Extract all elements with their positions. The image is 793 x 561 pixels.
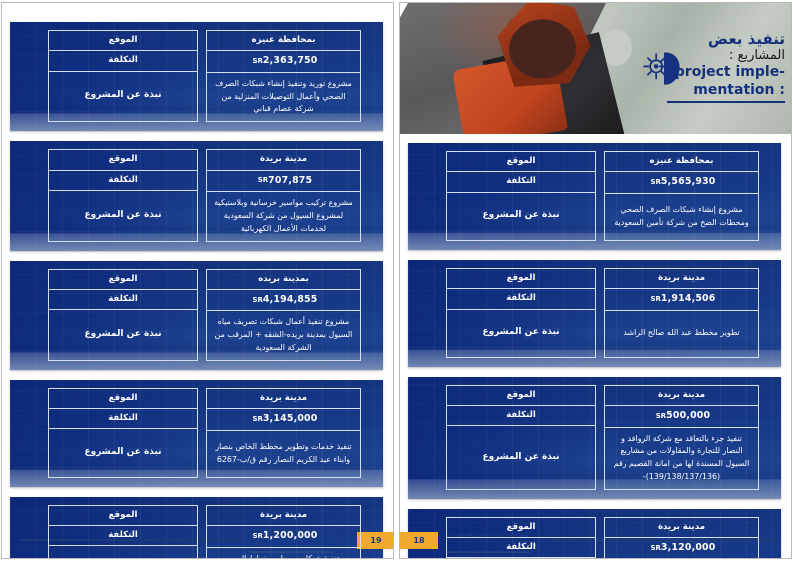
project-card[interactable]: مدينة بريدة SR3,120,000 تنفيذ شبكات الصر… (408, 509, 781, 559)
project-description-value: مشروع إنشاء شبكات الصرف الصحي ومحطات الض… (605, 194, 758, 240)
project-card[interactable]: بمدينة بريده SR4,194,855 مشروع تنفيذ أعم… (10, 261, 383, 370)
label-location: الموقع (447, 152, 595, 172)
project-description-value: تطوير مخطط عبد الله صالح الراشد (605, 311, 758, 357)
label-cost: التكلفة (447, 289, 595, 309)
project-cost-value: SR5,565,930 (605, 172, 758, 194)
project-value-column: مدينة بريدة SR1,200,000 تنفيذ شبكات سيول… (206, 505, 361, 559)
project-label-column: الموقع التكلفة نبذة عن المشروع (48, 388, 198, 478)
project-cost-value: SR3,145,000 (207, 409, 360, 431)
label-location: الموقع (49, 506, 197, 526)
project-location-value: مدينة بريدة (605, 386, 758, 406)
currency-label: SR (252, 531, 262, 542)
project-value-column: بمحافظة عنيزه SR2,363,750 مشروع توريد وت… (206, 30, 361, 122)
cost-amount: 2,363,750 (263, 54, 318, 69)
project-location-value: بمحافظة عنيزه (605, 152, 758, 172)
project-card[interactable]: مدينة بريدة SR707,875 مشروع تركيب مواسير… (10, 141, 383, 250)
label-cost: التكلفة (49, 290, 197, 310)
cost-amount: 707,875 (268, 174, 312, 189)
page-left: بمحافظة عنيزه SR2,363,750 مشروع توريد وت… (1, 2, 394, 559)
project-card[interactable]: مدينة بريدة SR1,914,506 تطوير مخطط عبد ا… (408, 260, 781, 367)
project-description-value: تنفيذ جزء بالتعاقد مع شركة الروافد و الن… (605, 428, 758, 489)
project-location-value: مدينة بريدة (207, 389, 360, 409)
project-location-value: مدينة بريدة (207, 506, 360, 526)
project-description-value: تنفيذ شبكات سيول بمخطط الحمر للمواطن ابر… (207, 548, 360, 559)
label-about: نبذة عن المشروع (447, 310, 595, 357)
label-cost: التكلفة (447, 538, 595, 558)
cost-amount: 1,200,000 (263, 529, 318, 544)
project-label-column: الموقع التكلفة نبذة عن المشروع (446, 151, 596, 241)
project-card[interactable]: بمحافظة عنيزه SR2,363,750 مشروع توريد وت… (10, 22, 383, 131)
cost-amount: 1,914,506 (661, 292, 716, 307)
project-description-value: مشروع تركيب مواسير خرسانية وبلاستيكية لم… (207, 192, 360, 240)
label-location: الموقع (447, 518, 595, 538)
label-about: نبذة عن المشروع (447, 426, 595, 488)
label-location: الموقع (447, 269, 595, 289)
cost-amount: 4,194,855 (263, 293, 318, 308)
section-header: تنفيذ بعض المشاريع : project imple- ment… (399, 3, 791, 134)
project-location-value: مدينة بريدة (207, 150, 360, 170)
magazine-spread: بمحافظة عنيزه SR2,363,750 مشروع توريد وت… (0, 0, 793, 561)
project-cost-value: SR500,000 (605, 406, 758, 428)
project-description-value: تنفيذ خدمات وتطوير مخطط الخاص بنصار وابن… (207, 431, 360, 477)
project-cost-value: SR707,875 (207, 171, 360, 193)
project-description-value: مشروع تنفيذ أعمال شبكات تصريف مياه السيو… (207, 311, 360, 359)
currency-label: SR (258, 175, 268, 186)
project-description-value: مشروع توريد وتنفيذ إنشاء شبكات الصرف الص… (207, 73, 360, 121)
label-cost: التكلفة (49, 409, 197, 429)
project-location-value: مدينة بريدة (605, 518, 758, 538)
label-cost: التكلفة (49, 51, 197, 71)
project-value-column: بمحافظة عنيزه SR5,565,930 مشروع إنشاء شب… (604, 151, 759, 241)
cost-amount: 3,120,000 (661, 541, 716, 556)
cost-amount: 500,000 (666, 409, 710, 424)
currency-label: SR (650, 294, 660, 305)
project-value-column: مدينة بريدة SR500,000 تنفيذ جزء بالتعاقد… (604, 385, 759, 490)
title-underline (667, 101, 785, 103)
project-card-list-left: بمحافظة عنيزه SR2,363,750 مشروع توريد وت… (2, 3, 393, 559)
label-about: نبذة عن المشروع (49, 429, 197, 476)
cost-amount: 5,565,930 (661, 175, 716, 190)
label-about: نبذة عن المشروع (447, 193, 595, 240)
label-about: نبذة عن المشروع (49, 72, 197, 122)
project-label-column: الموقع التكلفة نبذة عن المشروع (48, 30, 198, 122)
project-card[interactable]: مدينة بريدة SR1,200,000 تنفيذ شبكات سيول… (10, 497, 383, 559)
label-cost: التكلفة (447, 172, 595, 192)
brain-gear-icon (643, 49, 685, 89)
page-right: تنفيذ بعض المشاريع : project imple- ment… (399, 2, 792, 559)
label-location: الموقع (49, 389, 197, 409)
label-about: نبذة عن المشروع (49, 546, 197, 559)
label-location: الموقع (49, 31, 197, 51)
project-value-column: مدينة بريدة SR3,120,000 تنفيذ شبكات الصر… (604, 517, 759, 559)
project-card[interactable]: مدينة بريدة SR500,000 تنفيذ جزء بالتعاقد… (408, 377, 781, 499)
label-cost: التكلفة (49, 171, 197, 191)
project-cost-value: SR4,194,855 (207, 290, 360, 312)
currency-label: SR (252, 414, 262, 425)
label-cost: التكلفة (447, 406, 595, 426)
project-value-column: مدينة بريدة SR3,145,000 تنفيذ خدمات وتطو… (206, 388, 361, 478)
currency-label: SR (650, 177, 660, 188)
currency-label: SR (252, 56, 262, 67)
project-value-column: مدينة بريدة SR707,875 مشروع تركيب مواسير… (206, 149, 361, 241)
project-card[interactable]: مدينة بريدة SR3,145,000 تنفيذ خدمات وتطو… (10, 380, 383, 487)
currency-label: SR (656, 411, 666, 422)
label-about: نبذة عن المشروع (447, 558, 595, 559)
cost-amount: 3,145,000 (263, 412, 318, 427)
project-location-value: بمدينة بريده (207, 270, 360, 290)
project-label-column: الموقع التكلفة نبذة عن المشروع (48, 149, 198, 241)
project-label-column: الموقع التكلفة نبذة عن المشروع (48, 269, 198, 361)
project-label-column: الموقع التكلفة نبذة عن المشروع (446, 385, 596, 490)
project-label-column: الموقع التكلفة نبذة عن المشروع (446, 268, 596, 358)
project-label-column: الموقع التكلفة نبذة عن المشروع (446, 517, 596, 559)
currency-label: SR (650, 543, 660, 554)
label-about: نبذة عن المشروع (49, 310, 197, 360)
project-location-value: مدينة بريدة (605, 269, 758, 289)
project-location-value: بمحافظة عنيزه (207, 31, 360, 51)
project-card-list-right: بمحافظة عنيزه SR5,565,930 مشروع إنشاء شب… (400, 134, 791, 559)
label-about: نبذة عن المشروع (49, 191, 197, 241)
project-label-column: الموقع التكلفة نبذة عن المشروع (48, 505, 198, 559)
project-cost-value: SR3,120,000 (605, 538, 758, 559)
label-cost: التكلفة (49, 526, 197, 546)
label-location: الموقع (49, 270, 197, 290)
project-cost-value: SR1,914,506 (605, 289, 758, 311)
label-location: الموقع (447, 386, 595, 406)
project-value-column: بمدينة بريده SR4,194,855 مشروع تنفيذ أعم… (206, 269, 361, 361)
project-card[interactable]: بمحافظة عنيزه SR5,565,930 مشروع إنشاء شب… (408, 143, 781, 250)
project-value-column: مدينة بريدة SR1,914,506 تطوير مخطط عبد ا… (604, 268, 759, 358)
project-cost-value: SR1,200,000 (207, 526, 360, 548)
project-cost-value: SR2,363,750 (207, 51, 360, 73)
currency-label: SR (252, 295, 262, 306)
title-arabic-line1: تنفيذ بعض (667, 31, 785, 48)
label-location: الموقع (49, 150, 197, 170)
